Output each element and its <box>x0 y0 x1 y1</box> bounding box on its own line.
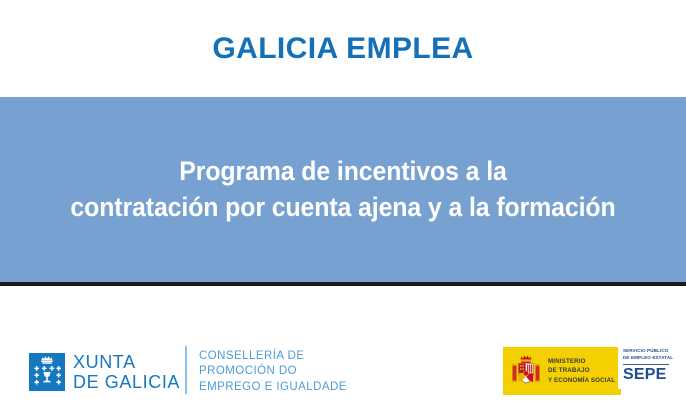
xunta-wordmark-line-2: DE GALICIA <box>73 372 180 392</box>
program-banner: Programa de incentivos a la contratación… <box>0 97 686 282</box>
conselleria-line-2: PROMOCIÓN DO <box>199 364 347 379</box>
ministerio-de-trabajo-logo: MINISTERIO DE TRABAJO Y ECONOMÍA SOCIAL <box>503 347 621 395</box>
ministerio-line-2: DE TRABAJO <box>548 366 615 376</box>
page-title: GALICIA EMPLEA <box>212 34 473 64</box>
program-banner-line-1: Programa de incentivos a la <box>35 154 651 190</box>
logo-vertical-divider <box>185 346 187 394</box>
ministerio-line-3: Y ECONOMÍA SOCIAL <box>548 376 615 386</box>
conselleria-line-3: EMPREGO E IGUALDADE <box>199 380 347 395</box>
sepe-subtitle-line-1: SERVICIO PÚBLICO <box>623 347 669 354</box>
xunta-de-galicia-coat-of-arms-icon <box>29 353 65 391</box>
sepe-subtitle-line-2: DE EMPLEO ESTATAL <box>623 354 669 361</box>
sepe-subtitle: SERVICIO PÚBLICO DE EMPLEO ESTATAL <box>623 347 669 362</box>
spain-coat-of-arms-icon <box>510 351 542 391</box>
ministerio-line-1: MINISTERIO <box>548 357 615 367</box>
header-area: GALICIA EMPLEA <box>0 0 686 97</box>
sepe-rule <box>623 364 669 365</box>
conselleria-label: CONSELLERÍA DE PROMOCIÓN DO EMPREGO E IG… <box>199 349 347 395</box>
xunta-de-galicia-wordmark: XUNTA DE GALICIA <box>73 352 180 392</box>
sepe-acronym: SEPE <box>623 367 669 383</box>
footer-logo-strip: XUNTA DE GALICIA CONSELLERÍA DE PROMOCIÓ… <box>0 286 686 410</box>
program-banner-text: Programa de incentivos a la contratación… <box>0 154 686 225</box>
conselleria-line-1: CONSELLERÍA DE <box>199 349 347 364</box>
ministerio-wordmark: MINISTERIO DE TRABAJO Y ECONOMÍA SOCIAL <box>548 357 615 386</box>
xunta-de-galicia-logo: XUNTA DE GALICIA <box>29 352 180 392</box>
xunta-wordmark-line-1: XUNTA <box>73 352 180 372</box>
program-banner-line-2: contratación por cuenta ajena y a la for… <box>35 190 651 226</box>
sepe-logo: SERVICIO PÚBLICO DE EMPLEO ESTATAL SEPE <box>618 343 674 389</box>
